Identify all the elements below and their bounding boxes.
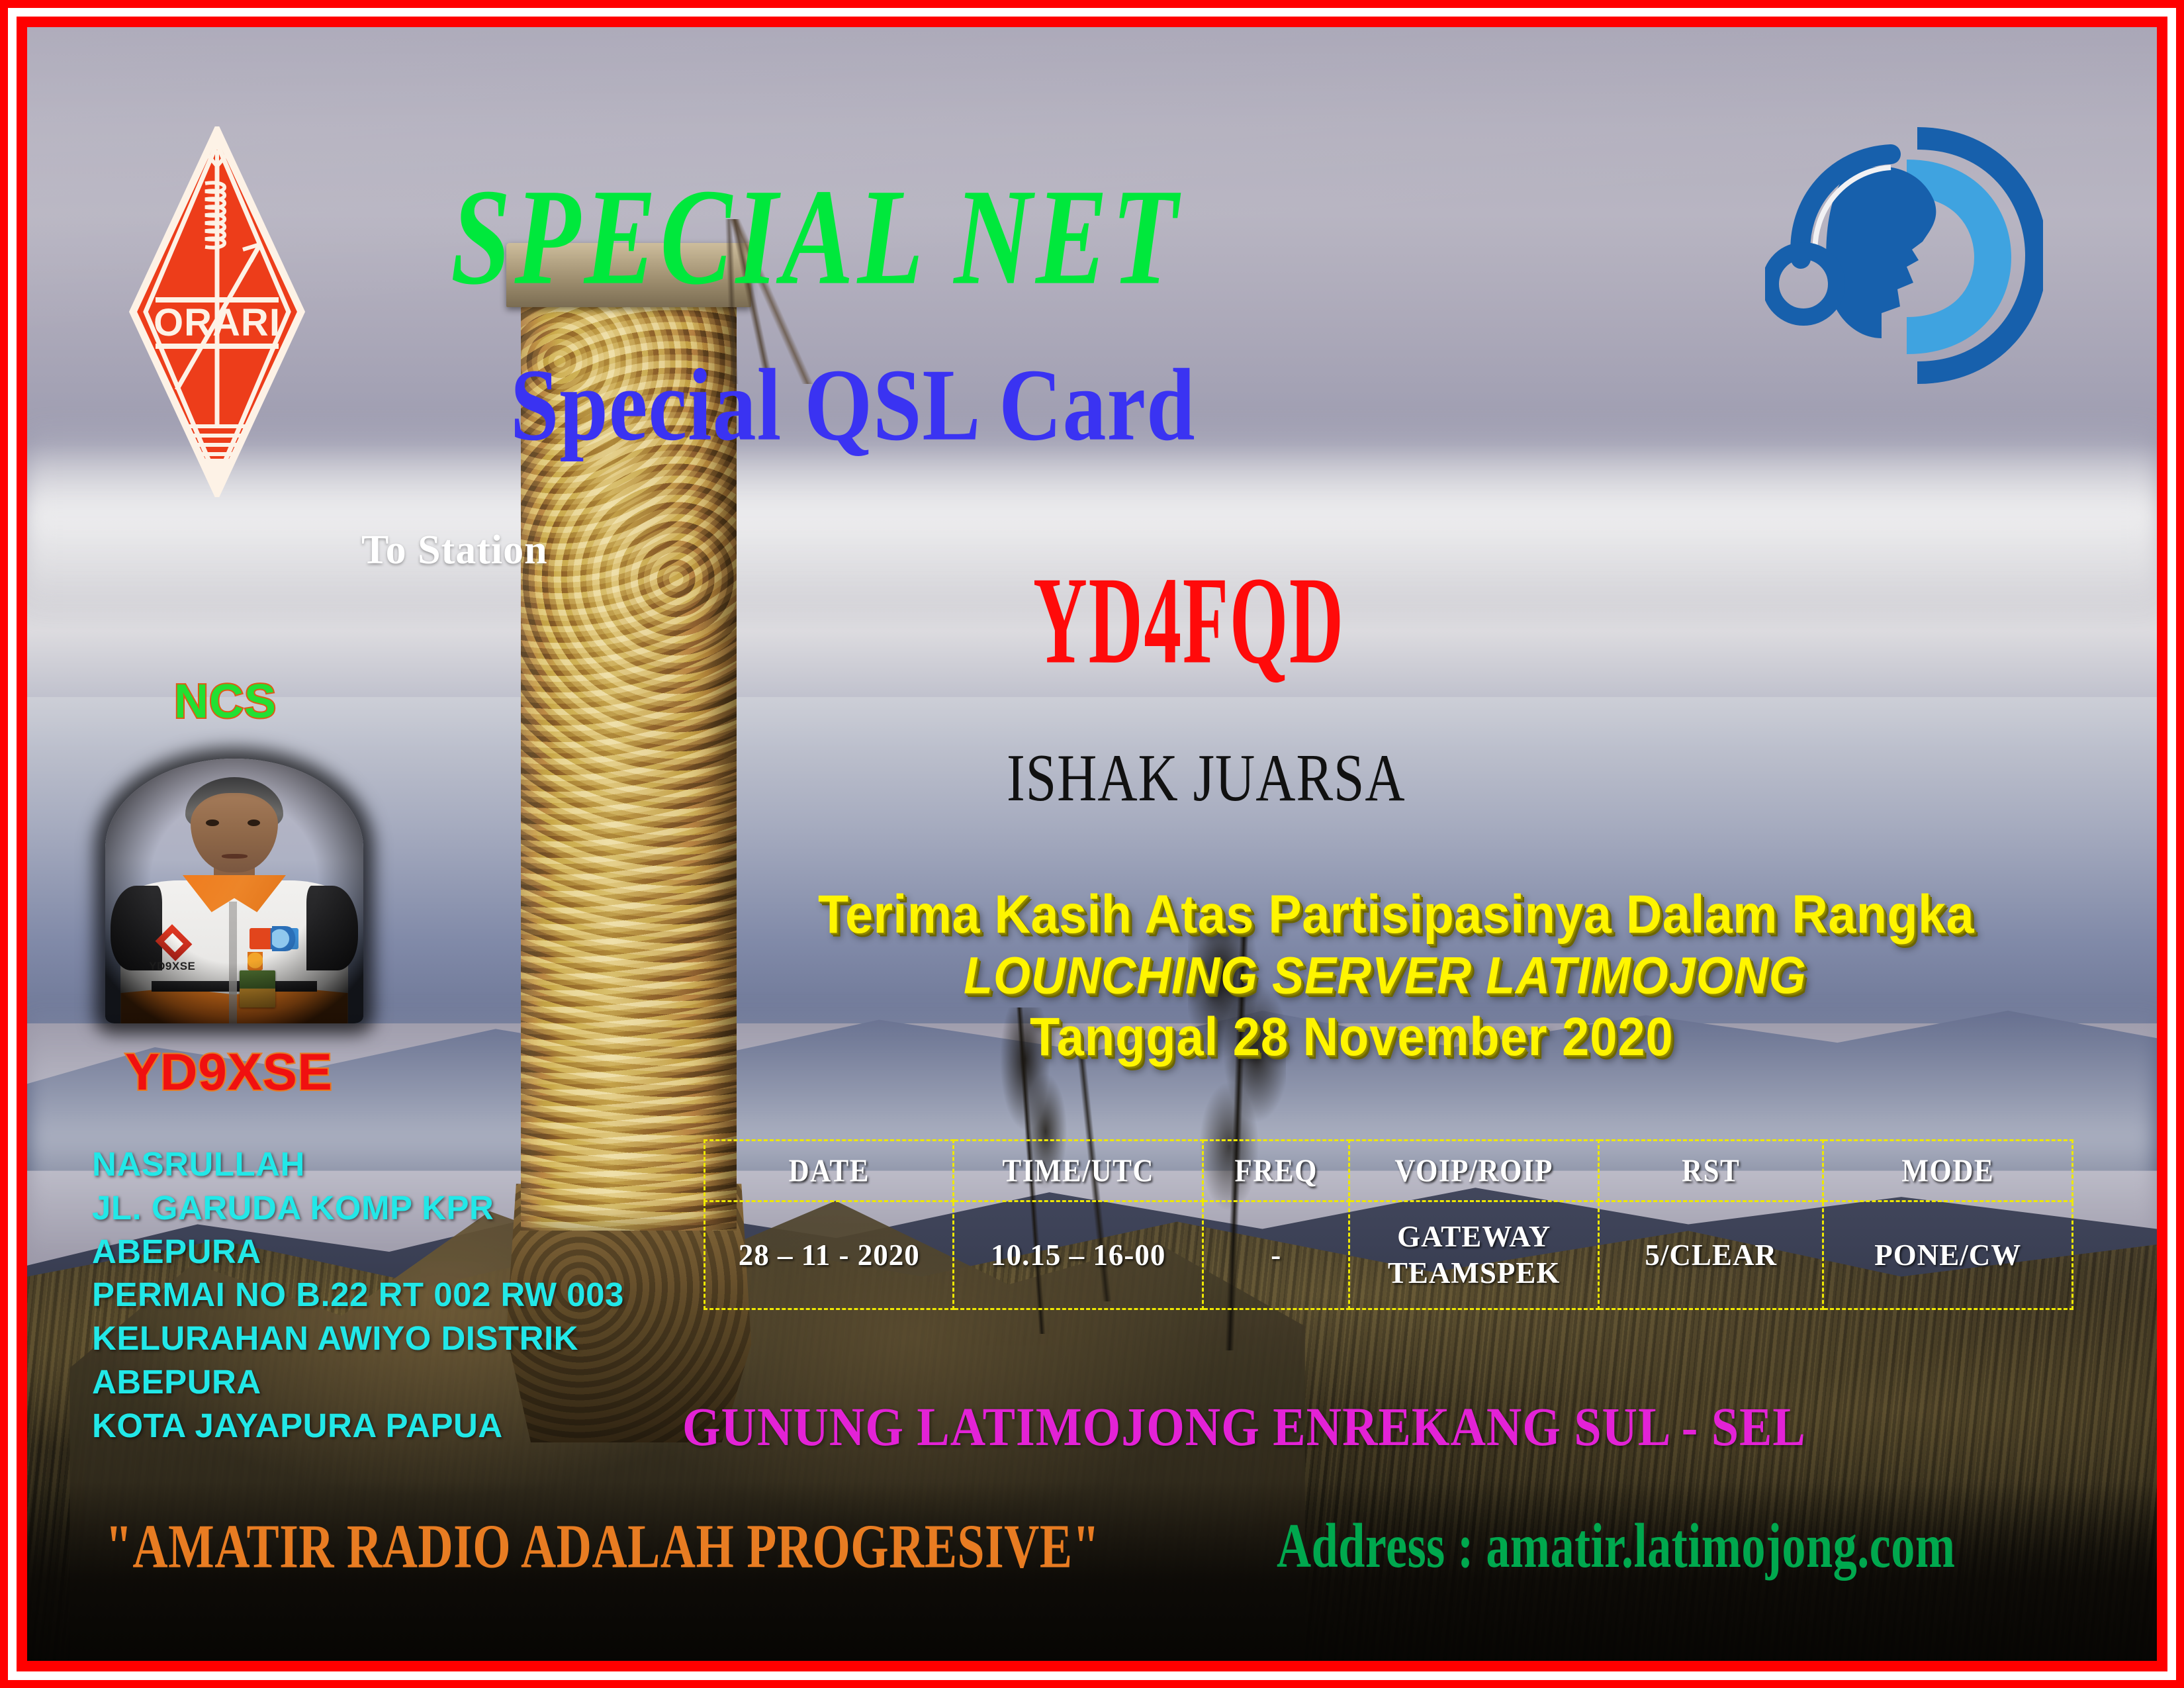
address-line: JL. GARUDA KOMP KPR [92, 1186, 624, 1230]
address-line: KELURAHAN AWIYO DISTRIK [92, 1317, 624, 1360]
cell-time: 10.15 – 16-00 [954, 1201, 1203, 1309]
address-line: ABEPURA [92, 1230, 624, 1274]
table-header-freq: FREQ [1203, 1137, 1349, 1205]
address-line: PERMAI NO B.22 RT 002 RW 003 [92, 1273, 624, 1317]
location-line: GUNUNG LATIMOJONG ENREKANG SUL - SEL [682, 1396, 1806, 1459]
address-line: ABEPURA [92, 1360, 624, 1404]
table-header-date: DATE [705, 1137, 954, 1205]
avatar-shoulder-right [306, 886, 358, 970]
avatar-shirt-callsign: YD9XSE [149, 960, 216, 973]
table-header-voip: VOIP/ROIP [1349, 1137, 1598, 1205]
qsl-card: ORARI [0, 0, 2184, 1688]
avatar-shoulder-left [111, 886, 162, 970]
address-line: NASRULLAH [92, 1143, 624, 1186]
avatar-mouth [222, 854, 248, 859]
background-photo-mountain-summit: ORARI [27, 27, 2157, 1661]
qso-log-table: DATE TIME/UTC FREQ VOIP/ROIP RST MODE 28… [704, 1139, 2073, 1310]
to-station-label: To Station [361, 527, 548, 574]
station-callsign: YD4FQD [1033, 550, 1345, 693]
ncs-callsign: YD9XSE [125, 1042, 333, 1102]
slogan-text: "AMATIR RADIO ADALAH PROGRESIVE" [105, 1511, 1100, 1583]
cell-date: 28 – 11 - 2020 [705, 1201, 954, 1309]
avatar-id-card [240, 970, 276, 1008]
table-header-mode: MODE [1823, 1137, 2073, 1205]
web-address-text: Address : amatir.latimojong.com [1277, 1510, 1955, 1583]
avatar-chest-logo [250, 928, 298, 949]
event-date-line: Tanggal 28 November 2020 [1030, 1006, 1674, 1068]
thanks-line: Terima Kasih Atas Partisipasinya Dalam R… [818, 883, 1974, 945]
ncs-operator-avatar: YD9XSE [105, 759, 363, 1023]
card-overlay: ORARI [27, 27, 2157, 1661]
table-header-rst: RST [1598, 1137, 1823, 1205]
cell-rst: 5/CLEAR [1598, 1201, 1823, 1309]
cell-freq: - [1203, 1201, 1349, 1309]
page-subtitle: Special QSL Card [510, 353, 1768, 457]
address-line: KOTA JAYAPURA PAPUA [92, 1404, 624, 1448]
table-header-time: TIME/UTC [954, 1137, 1203, 1205]
cell-voip-line1: GATEWAY [1354, 1219, 1593, 1255]
cell-voip-line2: TEAMSPEK [1354, 1255, 1593, 1291]
cell-mode: PONE/CW [1823, 1201, 2073, 1309]
card-white-frame: ORARI [8, 8, 2176, 1680]
cell-voip: GATEWAY TEAMSPEK [1349, 1201, 1598, 1309]
table-row: 28 – 11 - 2020 10.15 – 16-00 - GATEWAY T… [705, 1201, 2073, 1309]
page-title: SPECIAL NET [451, 168, 1670, 306]
avatar-shirt-placket [229, 902, 237, 1023]
card-inner-red-frame: ORARI [17, 17, 2167, 1671]
orari-wordmark: ORARI [154, 301, 281, 344]
event-line: LOUNCHING SERVER LATIMOJONG [964, 946, 1807, 1006]
avatar-face [191, 793, 279, 872]
orari-logo: ORARI [128, 126, 306, 497]
ncs-label: NCS [174, 675, 277, 729]
operator-name: ISHAK JUARSA [1007, 739, 1406, 817]
table-header-row: DATE TIME/UTC FREQ VOIP/ROIP RST MODE [705, 1141, 2073, 1201]
voip-headphone-logo [1765, 120, 2043, 385]
address-block: NASRULLAH JL. GARUDA KOMP KPR ABEPURA PE… [92, 1143, 624, 1447]
